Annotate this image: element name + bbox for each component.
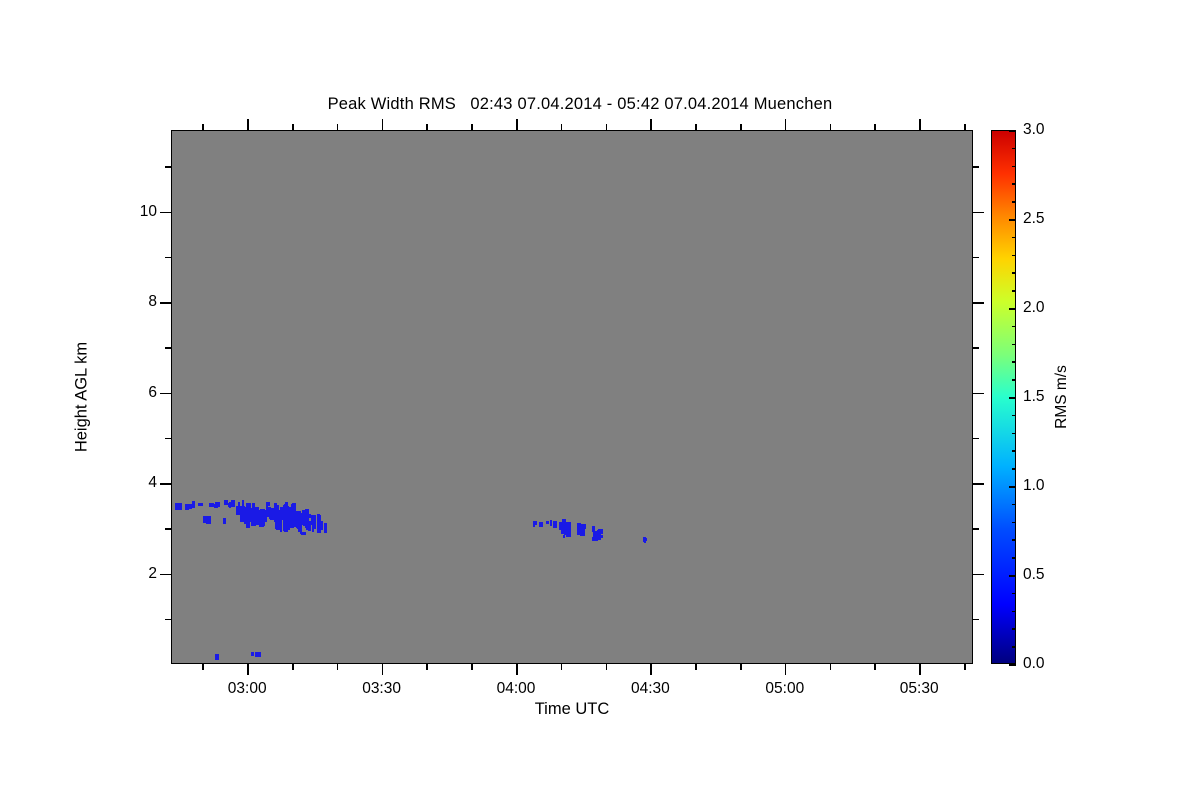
colorbar-minor-tick xyxy=(1012,255,1016,257)
colorbar-minor-tick xyxy=(1012,183,1016,185)
x-axis-minor-tick xyxy=(695,664,697,670)
x-axis-top-major-tick xyxy=(247,119,249,130)
y-axis-minor-tick xyxy=(165,528,171,530)
x-axis-minor-tick xyxy=(202,664,204,670)
x-axis-minor-tick xyxy=(292,664,294,670)
x-axis-top-major-tick xyxy=(919,119,921,130)
data-cell xyxy=(251,652,254,656)
x-axis-top-minor-tick xyxy=(874,124,876,130)
data-cell xyxy=(198,503,203,506)
data-cell xyxy=(276,517,278,529)
x-axis-title: Time UTC xyxy=(171,700,973,719)
colorbar-tick-label: 0.5 xyxy=(1023,566,1045,584)
colorbar-minor-tick xyxy=(1012,628,1016,630)
x-axis-top-major-tick xyxy=(516,119,518,130)
x-axis-top-minor-tick xyxy=(964,124,966,130)
x-axis-top-minor-tick xyxy=(202,124,204,130)
data-cell xyxy=(224,500,228,505)
y-axis-right-minor-tick xyxy=(973,528,979,530)
colorbar-minor-tick xyxy=(1012,468,1016,470)
colorbar-minor-tick xyxy=(1012,593,1016,595)
y-axis-right-minor-tick xyxy=(973,166,979,168)
colorbar-minor-tick xyxy=(1012,201,1016,203)
x-axis-minor-tick xyxy=(471,664,473,670)
colorbar-minor-tick xyxy=(1012,646,1016,648)
data-cell xyxy=(539,522,543,527)
data-cell xyxy=(563,535,565,538)
data-cell xyxy=(293,506,295,514)
data-cell xyxy=(578,524,581,527)
y-axis-tick-label: 6 xyxy=(111,384,157,402)
colorbar-minor-tick xyxy=(1012,450,1016,452)
x-axis-minor-tick xyxy=(964,664,966,670)
data-cell xyxy=(553,521,557,528)
data-cell xyxy=(598,529,603,534)
colorbar-minor-tick xyxy=(1012,379,1016,381)
x-axis-minor-tick xyxy=(740,664,742,670)
y-axis-minor-tick xyxy=(165,619,171,621)
x-axis-minor-tick xyxy=(426,664,428,670)
data-cell xyxy=(280,517,282,532)
x-axis-minor-tick xyxy=(830,664,832,670)
x-axis-tick-label: 04:00 xyxy=(497,680,536,698)
y-axis-major-tick xyxy=(160,483,171,485)
colorbar-minor-tick xyxy=(1012,539,1016,541)
colorbar-minor-tick xyxy=(1012,166,1016,168)
data-cell xyxy=(229,502,231,508)
x-axis-top-minor-tick xyxy=(337,124,339,130)
colorbar-minor-tick xyxy=(1012,272,1016,274)
y-axis-minor-tick xyxy=(165,347,171,349)
y-axis-minor-tick xyxy=(165,438,171,440)
y-axis-major-tick xyxy=(160,302,171,304)
data-cell xyxy=(209,503,214,507)
x-axis-tick-label: 03:30 xyxy=(362,680,401,698)
data-cell xyxy=(203,516,207,523)
colorbar-minor-tick xyxy=(1012,237,1016,239)
y-axis-right-minor-tick xyxy=(973,257,979,259)
x-axis-major-tick xyxy=(785,664,787,675)
x-axis-minor-tick xyxy=(874,664,876,670)
x-axis-minor-tick xyxy=(606,664,608,670)
x-axis-tick-label: 05:30 xyxy=(900,680,939,698)
x-axis-major-tick xyxy=(382,664,384,675)
data-cell xyxy=(535,521,537,525)
y-axis-major-tick xyxy=(160,393,171,395)
y-axis-minor-tick xyxy=(165,257,171,259)
colorbar-tick-label: 1.5 xyxy=(1023,388,1045,406)
y-axis-tick-label: 4 xyxy=(111,474,157,492)
colorbar-major-tick xyxy=(1009,486,1016,488)
y-axis-right-major-tick xyxy=(973,574,984,576)
data-cell xyxy=(309,514,311,518)
data-cell xyxy=(312,515,316,521)
data-cell xyxy=(266,506,268,517)
x-axis-top-minor-tick xyxy=(561,124,563,130)
x-axis-top-major-tick xyxy=(650,119,652,130)
colorbar-major-tick xyxy=(1009,219,1016,221)
colorbar-minor-tick xyxy=(1012,433,1016,435)
x-axis-major-tick xyxy=(516,664,518,675)
x-axis-top-minor-tick xyxy=(830,124,832,130)
data-cell xyxy=(550,520,552,526)
y-axis-right-major-tick xyxy=(973,393,984,395)
y-axis-tick-label: 2 xyxy=(111,565,157,583)
colorbar-tick-label: 2.5 xyxy=(1023,210,1045,228)
colorbar-minor-tick xyxy=(1012,522,1016,524)
data-cell xyxy=(286,505,288,509)
colorbar-title: RMS m/s xyxy=(1053,365,1071,429)
colorbar-major-tick xyxy=(1009,664,1016,666)
x-axis-top-minor-tick xyxy=(471,124,473,130)
y-axis-right-minor-tick xyxy=(973,619,979,621)
colorbar-minor-tick xyxy=(1012,290,1016,292)
colorbar-minor-tick xyxy=(1012,148,1016,150)
data-cell xyxy=(215,502,220,507)
data-cell xyxy=(192,501,195,508)
data-cell xyxy=(583,524,585,527)
y-axis-right-minor-tick xyxy=(973,347,979,349)
y-axis-major-tick xyxy=(160,212,171,214)
x-axis-top-major-tick xyxy=(382,119,384,130)
data-cell xyxy=(533,521,535,527)
data-cell xyxy=(243,506,245,513)
data-cell xyxy=(317,521,321,527)
x-axis-major-tick xyxy=(919,664,921,675)
colorbar-minor-tick xyxy=(1012,361,1016,363)
data-cell xyxy=(215,654,218,659)
data-cell xyxy=(561,526,565,534)
colorbar-minor-tick xyxy=(1012,415,1016,417)
y-axis-right-major-tick xyxy=(973,302,984,304)
data-cell xyxy=(598,535,603,538)
y-axis-tick-label: 10 xyxy=(111,203,157,221)
data-cell xyxy=(285,509,289,524)
colorbar-tick-label: 1.0 xyxy=(1023,477,1045,495)
y-axis-major-tick xyxy=(160,574,171,576)
colorbar-major-tick xyxy=(1009,575,1016,577)
data-cell xyxy=(593,531,597,538)
x-axis-top-minor-tick xyxy=(426,124,428,130)
data-cell xyxy=(296,511,300,521)
colorbar-major-tick xyxy=(1009,397,1016,399)
x-axis-top-minor-tick xyxy=(292,124,294,130)
x-axis-tick-label: 05:00 xyxy=(765,680,804,698)
y-axis-right-major-tick xyxy=(973,483,984,485)
x-axis-top-minor-tick xyxy=(695,124,697,130)
data-cell xyxy=(246,503,251,522)
plot-area xyxy=(171,130,973,664)
x-axis-minor-tick xyxy=(561,664,563,670)
data-cell xyxy=(224,520,226,524)
x-axis-tick-label: 04:30 xyxy=(631,680,670,698)
colorbar-tick-label: 3.0 xyxy=(1023,121,1045,139)
x-axis-minor-tick xyxy=(337,664,339,670)
data-cell xyxy=(312,528,314,532)
colorbar-tick-label: 0.0 xyxy=(1023,655,1045,673)
colorbar-minor-tick xyxy=(1012,557,1016,559)
y-axis-title: Height AGL km xyxy=(73,342,92,452)
y-axis-minor-tick xyxy=(165,166,171,168)
data-cell xyxy=(300,518,302,526)
colorbar-minor-tick xyxy=(1012,611,1016,613)
colorbar-minor-tick xyxy=(1012,326,1016,328)
colorbar-tick-label: 2.0 xyxy=(1023,299,1045,317)
x-axis-tick-label: 03:00 xyxy=(228,680,267,698)
x-axis-top-major-tick xyxy=(785,119,787,130)
data-cell xyxy=(566,522,571,537)
colorbar-minor-tick xyxy=(1012,504,1016,506)
figure-canvas: Peak Width RMS 02:43 07.04.2014 - 05:42 … xyxy=(0,0,1200,800)
data-cell xyxy=(644,538,647,541)
y-axis-right-minor-tick xyxy=(973,438,979,440)
y-axis-right-major-tick xyxy=(973,212,984,214)
heatmap-data-layer xyxy=(172,131,972,663)
colorbar-major-tick xyxy=(1009,308,1016,310)
colorbar-major-tick xyxy=(1009,130,1016,132)
data-cell xyxy=(324,523,327,533)
data-cell xyxy=(259,518,264,527)
data-cell xyxy=(546,521,549,524)
x-axis-major-tick xyxy=(247,664,249,675)
y-axis-tick-label: 8 xyxy=(111,293,157,311)
page-title: Peak Width RMS 02:43 07.04.2014 - 05:42 … xyxy=(0,95,1160,114)
data-cell xyxy=(178,503,182,510)
x-axis-major-tick xyxy=(650,664,652,675)
data-cell xyxy=(256,652,261,657)
colorbar-minor-tick xyxy=(1012,344,1016,346)
x-axis-top-minor-tick xyxy=(606,124,608,130)
x-axis-top-minor-tick xyxy=(740,124,742,130)
